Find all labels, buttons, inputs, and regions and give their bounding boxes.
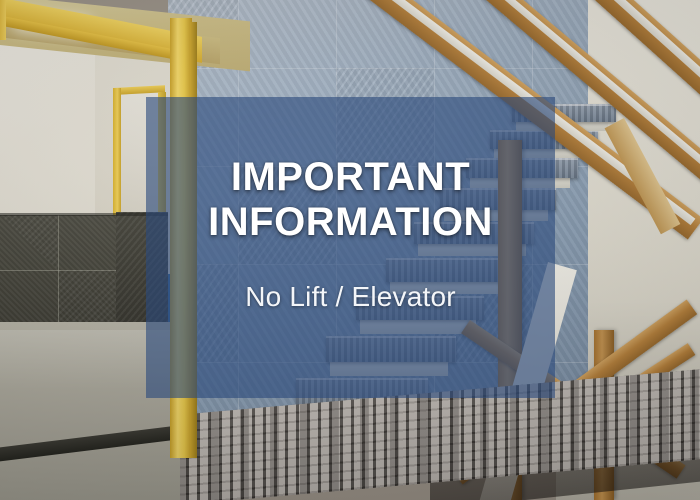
information-overlay-card: IMPORTANT INFORMATION No Lift / Elevator bbox=[146, 97, 555, 398]
door-frame-left bbox=[0, 0, 6, 40]
important-information-banner: IMPORTANT INFORMATION No Lift / Elevator bbox=[0, 0, 700, 500]
overlay-headline-line1: IMPORTANT bbox=[231, 155, 470, 199]
overlay-headline-line2: INFORMATION bbox=[146, 200, 555, 245]
wainscot-top-trim bbox=[0, 213, 168, 216]
overlay-subheadline: No Lift / Elevator bbox=[146, 281, 555, 313]
floor-reflection bbox=[0, 330, 170, 390]
overlay-headline: IMPORTANT INFORMATION bbox=[146, 155, 555, 245]
